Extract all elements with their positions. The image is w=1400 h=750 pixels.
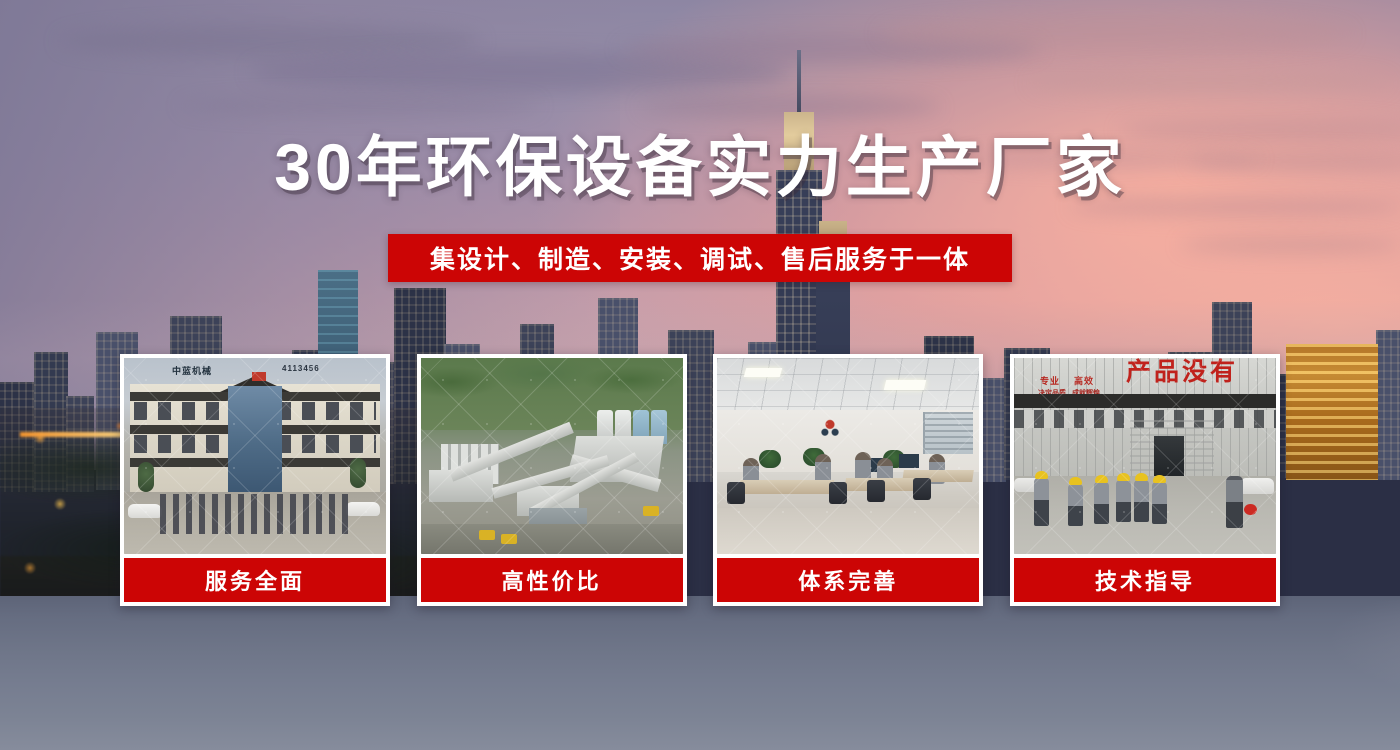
hard-hat	[1135, 473, 1148, 481]
lit-building	[1286, 344, 1378, 480]
card-caption-bar: 技术指导	[1014, 558, 1276, 602]
yard-ground	[421, 524, 683, 554]
wall-decal	[813, 414, 847, 440]
red-hard-hat	[1244, 504, 1257, 515]
hard-hat	[1117, 473, 1130, 481]
subtitle-text: 集设计、制造、安装、调试、售后服务于一体	[430, 240, 970, 276]
river-reflection	[620, 600, 1400, 750]
feature-card[interactable]: 体系完善	[713, 354, 983, 606]
subtitle-banner: 集设计、制造、安装、调试、售后服务于一体	[388, 234, 1012, 282]
factory-banner-text: 产品没有	[1126, 360, 1238, 385]
flag	[252, 372, 266, 381]
card-photo-training: 产品没有 专业 高效 决定品质 成就辉煌	[1014, 358, 1276, 554]
hero-banner: 30年环保设备实力生产厂家 集设计、制造、安装、调试、售后服务于一体 中蓝机械 …	[0, 0, 1400, 750]
building	[1376, 330, 1400, 480]
card-caption-bar: 体系完善	[717, 558, 979, 602]
building-entrance	[228, 386, 282, 492]
building-phone-text: 4113456	[282, 364, 320, 373]
desk	[738, 480, 834, 494]
card-caption-label: 体系完善	[798, 564, 898, 596]
feature-card[interactable]: 产品没有 专业 高效 决定品质 成就辉煌	[1010, 354, 1280, 606]
office-chair	[727, 482, 745, 504]
monitor	[899, 454, 919, 468]
staff-lineup	[160, 494, 350, 534]
excavator	[643, 506, 659, 516]
excavator	[501, 534, 517, 544]
card-caption-bar: 服务全面	[124, 558, 386, 602]
factory-slogan-text: 专业	[1040, 374, 1060, 387]
factory-slogan-text: 高效	[1074, 374, 1094, 387]
floor	[717, 508, 979, 554]
page-title: 30年环保设备实力生产厂家	[0, 134, 1400, 200]
tree	[350, 458, 366, 488]
tree	[138, 462, 154, 492]
worker	[1152, 482, 1167, 524]
worker	[1094, 482, 1109, 524]
hard-hat	[1069, 477, 1082, 485]
card-photo-office-interior	[717, 358, 979, 554]
parked-car	[1240, 478, 1274, 494]
parked-car	[346, 502, 380, 516]
hard-hat	[1095, 475, 1108, 483]
feature-card[interactable]: 高性价比	[417, 354, 687, 606]
potted-plant	[759, 450, 781, 468]
feature-card[interactable]: 中蓝机械 4113456 服务全面	[120, 354, 390, 606]
ceiling-light	[744, 368, 783, 377]
ceiling-light	[884, 380, 926, 390]
excavator	[479, 530, 495, 540]
ceiling	[717, 358, 979, 414]
feature-card-row: 中蓝机械 4113456 服务全面	[120, 354, 1280, 606]
factory-door	[1154, 436, 1184, 480]
worker	[1068, 484, 1083, 526]
building-sign-text: 中蓝机械	[172, 364, 212, 377]
hard-hat	[1153, 475, 1166, 483]
tower-spire	[797, 50, 801, 114]
worker	[1134, 480, 1149, 522]
window-blinds	[923, 412, 973, 454]
card-caption-bar: 高性价比	[421, 558, 683, 602]
hard-hat	[1035, 471, 1048, 479]
card-caption-label: 高性价比	[502, 564, 602, 596]
card-caption-label: 技术指导	[1095, 564, 1195, 596]
card-photo-company-building: 中蓝机械 4113456	[124, 358, 386, 554]
worker	[1034, 478, 1049, 526]
instructor	[1226, 476, 1243, 528]
facade-band	[1014, 394, 1276, 408]
card-photo-plant-aerial	[421, 358, 683, 554]
card-caption-label: 服务全面	[205, 564, 305, 596]
parked-car	[128, 504, 162, 518]
worker	[1116, 480, 1131, 522]
office-chair	[867, 480, 885, 502]
office-chair	[829, 482, 847, 504]
office-chair	[913, 478, 931, 500]
